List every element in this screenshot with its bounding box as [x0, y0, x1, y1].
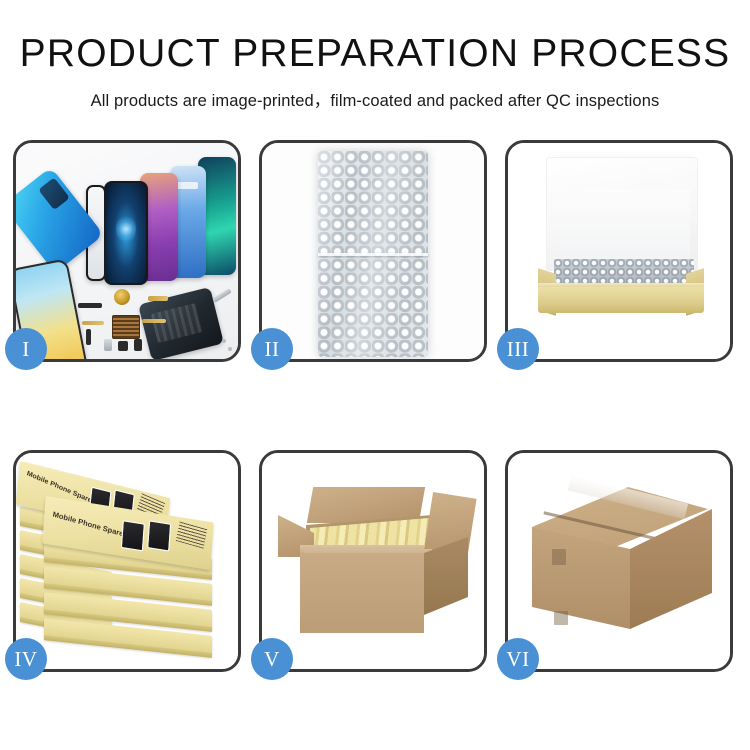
inner-box-foam: [554, 189, 690, 267]
step-panel-1: I: [13, 140, 241, 362]
step-panel-2: II: [259, 140, 487, 362]
step-panel-5: V: [259, 450, 487, 672]
phone-fan-illustration: [16, 143, 238, 359]
step-image-6: [508, 453, 730, 669]
step-image-2: [262, 143, 484, 359]
sealed-carton-tab-upper: [552, 549, 566, 565]
step-image-3: [508, 143, 730, 359]
part-speaker-coil: [114, 289, 130, 305]
step-image-5: [262, 453, 484, 669]
part-screw-1: [222, 339, 226, 343]
step-panel-4: Mobile Phone Spare Parts Mobile Phone Sp…: [13, 450, 241, 672]
part-tweezers: [212, 288, 232, 303]
step-image-4: Mobile Phone Spare Parts Mobile Phone Sp…: [16, 453, 238, 669]
part-flex-cable-3: [142, 319, 166, 323]
step-badge-1: I: [5, 328, 47, 370]
part-flex-cable-1: [148, 296, 168, 301]
part-flex-cable-2: [82, 321, 104, 325]
bubble-wrap-seam: [318, 253, 428, 256]
part-connector-1: [86, 329, 91, 345]
sealed-carton-tab-lower: [554, 611, 568, 625]
part-camera-module: [134, 339, 142, 351]
process-steps-grid: I II III: [13, 140, 739, 672]
box-lid-front-photo-2: [147, 520, 171, 551]
part-chip-grid: [112, 315, 140, 339]
carton-body-front: [300, 553, 424, 633]
page-title: PRODUCT PREPARATION PROCESS: [0, 34, 750, 73]
page-subtitle: All products are image-printed，film-coat…: [0, 87, 750, 111]
part-screw-2: [228, 347, 232, 351]
inner-box-tray-front: [538, 287, 704, 313]
step-badge-4: IV: [5, 638, 47, 680]
part-antenna-strip: [78, 303, 102, 308]
page-header: PRODUCT PREPARATION PROCESS All products…: [0, 0, 750, 111]
step-badge-2: II: [251, 328, 293, 370]
part-metal-bracket: [104, 339, 112, 351]
box-stack-illustration: Mobile Phone Spare Parts Mobile Phone Sp…: [16, 453, 238, 669]
step-badge-6: VI: [497, 638, 539, 680]
step-image-1: [16, 143, 238, 359]
part-button-set: [118, 341, 128, 351]
step-panel-3: III: [505, 140, 733, 362]
box-lid-front-textlines: [176, 522, 207, 549]
step-panel-6: VI: [505, 450, 733, 672]
step-badge-3: III: [497, 328, 539, 370]
box-lid-front-photo-1: [121, 520, 145, 551]
step-badge-5: V: [251, 638, 293, 680]
phone-black-frame: [104, 181, 148, 285]
